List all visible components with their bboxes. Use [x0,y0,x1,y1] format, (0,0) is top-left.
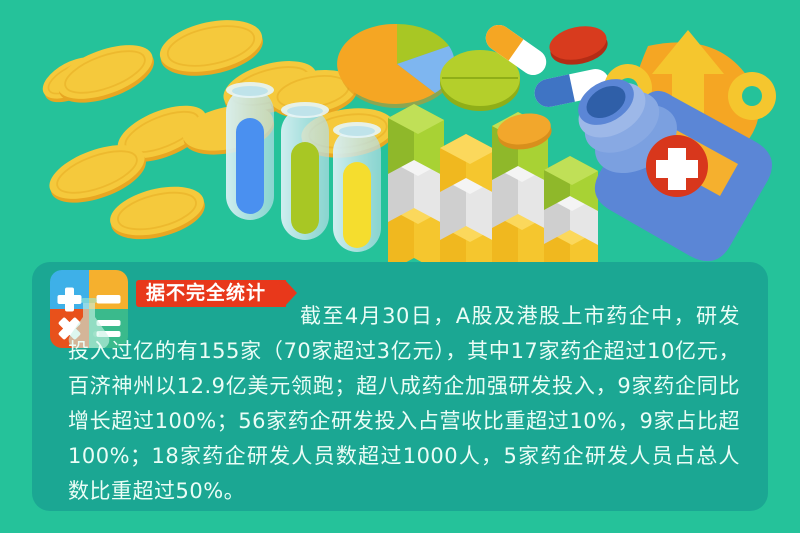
bar-3d [440,134,496,262]
test-tube-green [281,102,329,240]
body-paragraph: 截至4月30日，A股及港股上市药企中，研发投入过亿的有155家（70家超过3亿元… [68,299,740,509]
bar-3d [388,104,444,262]
illustration-banner [0,0,800,262]
bar-3d [544,156,598,262]
red-cross-badge [646,135,708,197]
statistics-text-card: 据不完全统计 截至4月30日，A股及港股上市药企中，研发投入过亿的有155家（7… [32,262,768,511]
pie-chart [337,24,455,108]
test-tube-yellow [333,122,381,252]
test-tube-blue [226,82,274,220]
infographic-root: 据不完全统计 截至4月30日，A股及港股上市药企中，研发投入过亿的有155家（7… [0,0,800,533]
